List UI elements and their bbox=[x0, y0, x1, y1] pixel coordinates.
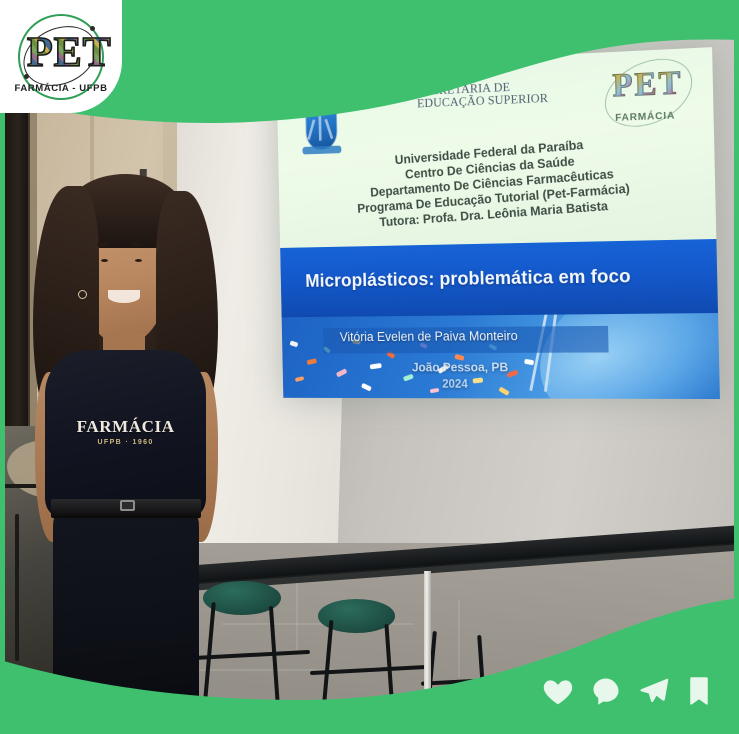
mec-logo: S MEC SECRETARIA DE EDUCAÇÃO SUPERIOR bbox=[393, 68, 548, 111]
slide-footer-photo: Vitória Evelen de Paiva Monteiro João Pe… bbox=[282, 313, 720, 399]
slide-author: Vitória Evelen de Paiva Monteiro bbox=[340, 329, 518, 345]
bookmark-icon[interactable] bbox=[687, 676, 711, 706]
logo-letter: T bbox=[83, 33, 111, 73]
slide-header-lines: Universidade Federal da Paraíba Centro D… bbox=[277, 127, 716, 238]
pet-farmacia-logo: P E T FARMÁCIA - UFPB bbox=[10, 10, 112, 104]
photo-scene: S MEC SECRETARIA DE EDUCAÇÃO SUPERIOR P … bbox=[0, 0, 739, 734]
logo-caption: FARMÁCIA - UFPB bbox=[10, 83, 112, 94]
pet-letter: P bbox=[612, 68, 633, 102]
logo-letter: E bbox=[54, 33, 82, 73]
instagram-post: S MEC SECRETARIA DE EDUCAÇÃO SUPERIOR P … bbox=[0, 0, 739, 734]
heart-icon[interactable] bbox=[542, 676, 574, 706]
earring bbox=[78, 290, 87, 299]
slide-year: 2024 bbox=[442, 377, 468, 390]
logo-card: P E T FARMÁCIA - UFPB bbox=[0, 0, 122, 113]
frame-edge-right bbox=[734, 0, 739, 734]
eyebrow bbox=[131, 243, 142, 246]
pet-logo-caption: FARMÁCIA bbox=[615, 109, 675, 123]
projected-slide: S MEC SECRETARIA DE EDUCAÇÃO SUPERIOR P … bbox=[276, 47, 720, 399]
tshirt-sub-text: UFPB · 1960 bbox=[45, 439, 206, 446]
slide-title: Microplásticos: problemática em foco bbox=[281, 266, 631, 293]
mec-mark-icon: S bbox=[393, 75, 413, 104]
post-actions bbox=[542, 676, 711, 706]
slide-header: S MEC SECRETARIA DE EDUCAÇÃO SUPERIOR P … bbox=[276, 47, 716, 248]
slide-city: João Pessoa, PB bbox=[412, 360, 509, 375]
pet-letter: E bbox=[634, 67, 657, 102]
pet-letter: T bbox=[658, 66, 681, 101]
logo-letter: P bbox=[27, 33, 53, 73]
slide-title-band: Microplásticos: problemática em foco bbox=[280, 239, 718, 317]
comment-icon[interactable] bbox=[591, 676, 621, 706]
cart-post-2 bbox=[15, 514, 19, 661]
paper-plane-icon[interactable] bbox=[638, 676, 670, 706]
belt-buckle bbox=[120, 500, 135, 511]
support-pole bbox=[424, 571, 431, 703]
pants bbox=[53, 502, 199, 734]
pet-logo-slide: P E T FARMÁCIA bbox=[602, 60, 695, 125]
presenter-person: FARMÁCIA UFPB · 1960 bbox=[30, 169, 222, 734]
tshirt: FARMÁCIA UFPB · 1960 bbox=[45, 350, 206, 520]
ufpb-crest-icon bbox=[302, 96, 342, 158]
smile bbox=[108, 290, 140, 303]
eyebrow bbox=[97, 243, 108, 246]
tshirt-main-text: FARMÁCIA bbox=[45, 417, 206, 437]
